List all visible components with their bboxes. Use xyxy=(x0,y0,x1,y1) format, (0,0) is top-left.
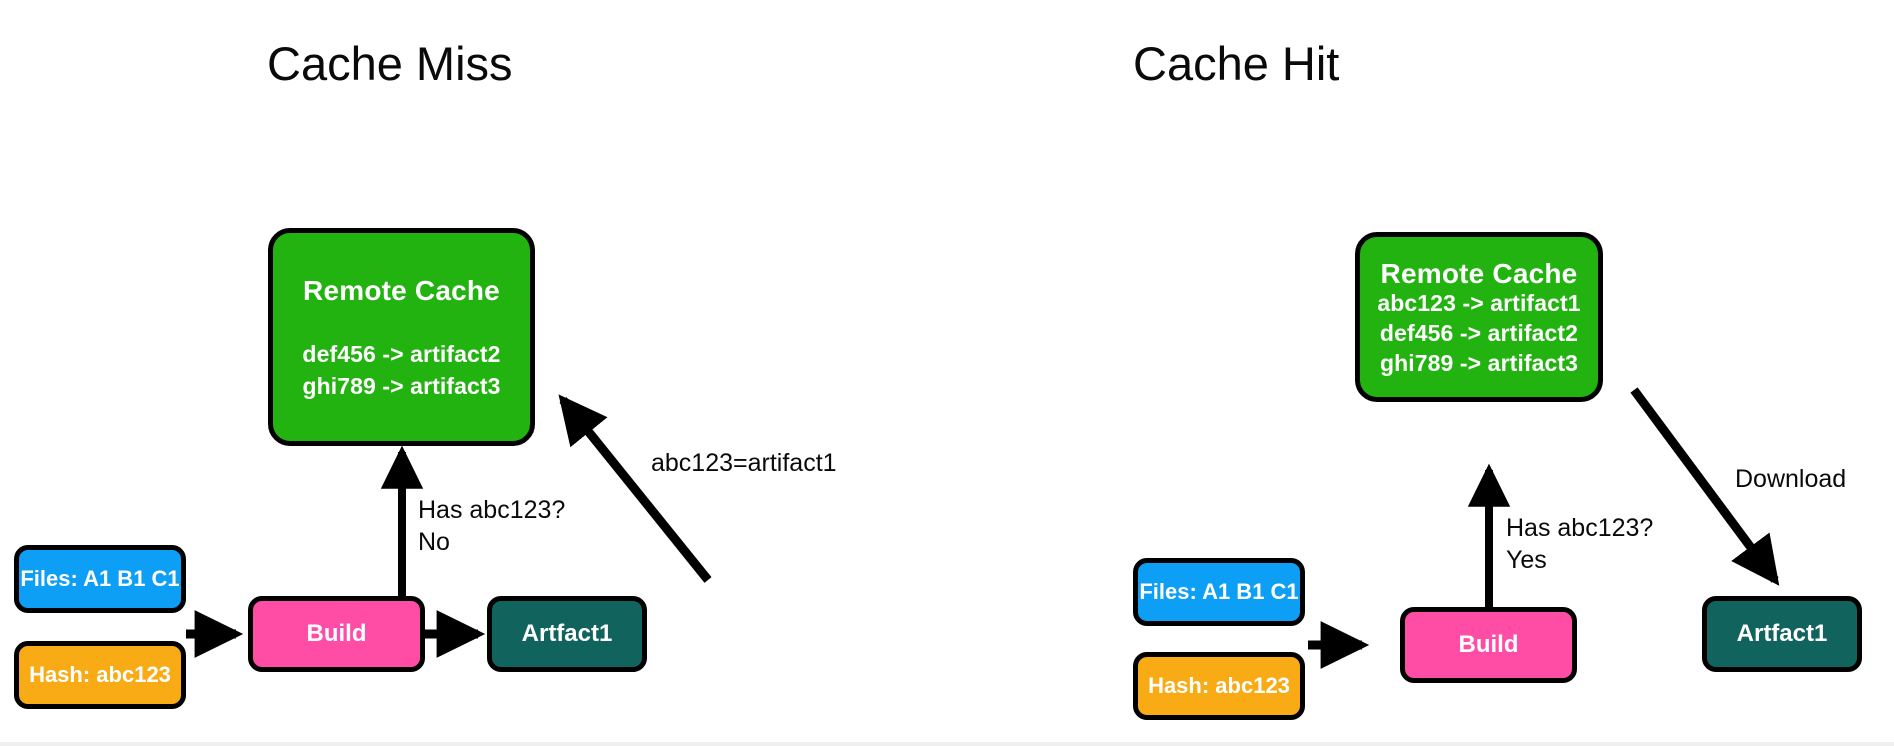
edge-label-query-right: Has abc123? Yes xyxy=(1506,512,1653,576)
hash-box-right[interactable]: Hash: abc123 xyxy=(1133,652,1305,720)
panel-title-cache-hit: Cache Hit xyxy=(1133,40,1339,87)
edge-label-download-right: Download xyxy=(1735,463,1846,495)
files-box-label: Files: A1 B1 C1 xyxy=(1139,580,1298,605)
remote-cache-box-right[interactable]: Remote Cache abc123 -> artifact1 def456 … xyxy=(1355,232,1603,402)
remote-cache-title-left: Remote Cache xyxy=(303,275,500,306)
arrow-artifact-to-cache-left xyxy=(563,400,708,580)
hash-box-label: Hash: abc123 xyxy=(1148,674,1290,699)
remote-cache-entry: ghi789 -> artifact3 xyxy=(1380,351,1578,377)
diagram-canvas: Cache Miss Remote Cache def456 -> artifa… xyxy=(0,0,1894,746)
artifact-box-left[interactable]: Artfact1 xyxy=(487,596,647,672)
build-box-label: Build xyxy=(1459,632,1519,659)
remote-cache-box-left[interactable]: Remote Cache def456 -> artifact2 ghi789 … xyxy=(268,228,535,446)
build-box-label: Build xyxy=(307,621,367,648)
files-box-right[interactable]: Files: A1 B1 C1 xyxy=(1133,558,1305,626)
remote-cache-entry: def456 -> artifact2 xyxy=(1380,321,1578,347)
remote-cache-entry: ghi789 -> artifact3 xyxy=(302,374,500,400)
artifact-box-right[interactable]: Artfact1 xyxy=(1702,596,1862,672)
edge-label-query-left: Has abc123? No xyxy=(418,494,565,558)
bottom-divider xyxy=(0,742,1894,746)
artifact-box-label: Artfact1 xyxy=(1737,621,1828,648)
hash-box-left[interactable]: Hash: abc123 xyxy=(14,641,186,709)
files-box-label: Files: A1 B1 C1 xyxy=(20,567,179,592)
remote-cache-entry: def456 -> artifact2 xyxy=(302,342,500,368)
edge-label-upload-left: abc123=artifact1 xyxy=(651,447,837,479)
remote-cache-title-right: Remote Cache xyxy=(1381,258,1578,289)
build-box-right[interactable]: Build xyxy=(1400,607,1577,683)
remote-cache-entry: abc123 -> artifact1 xyxy=(1377,291,1580,317)
files-box-left[interactable]: Files: A1 B1 C1 xyxy=(14,545,186,613)
artifact-box-label: Artfact1 xyxy=(522,621,613,648)
hash-box-label: Hash: abc123 xyxy=(29,663,171,688)
panel-title-cache-miss: Cache Miss xyxy=(267,40,513,87)
build-box-left[interactable]: Build xyxy=(248,596,425,672)
